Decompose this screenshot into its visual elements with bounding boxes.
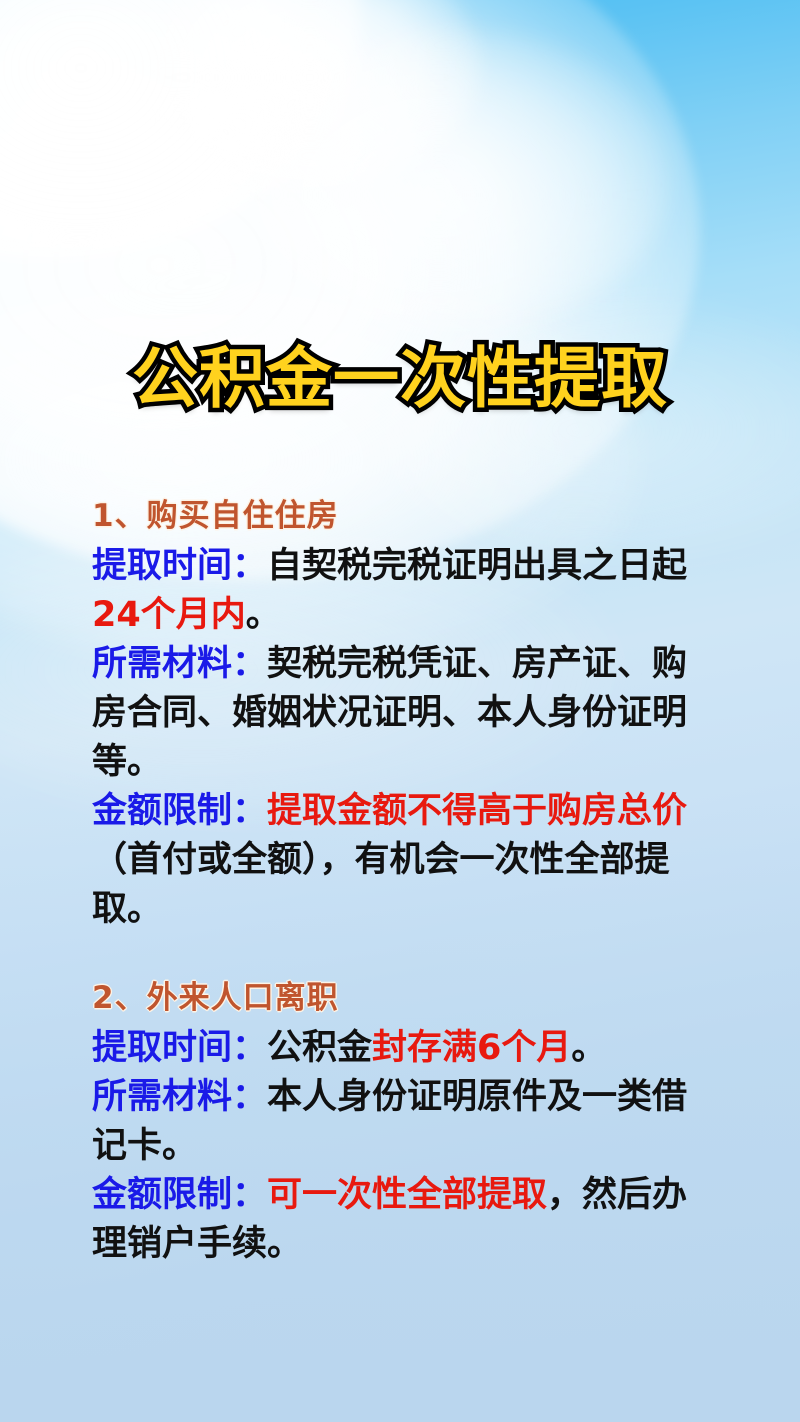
- info-row-label: 所需材料：: [92, 644, 267, 684]
- info-row-text: 公积金: [267, 1028, 372, 1068]
- content-body: 1、购买自住住房提取时间：自契税完税证明出具之日起24个月内。所需材料：契税完税…: [92, 492, 712, 1269]
- info-row-highlight: 封存满6个月: [372, 1028, 571, 1068]
- info-row-text: 。: [571, 1028, 606, 1068]
- section-heading: 2、外来人口离职: [92, 974, 712, 1022]
- section: 1、购买自住住房提取时间：自契税完税证明出具之日起24个月内。所需材料：契税完税…: [92, 492, 712, 934]
- cloud-puff-top: [140, 0, 480, 190]
- info-row: 金额限制：提取金额不得高于购房总价（首付或全额），有机会一次性全部提取。: [92, 787, 712, 934]
- poster-canvas: 公积金一次性提取 1、购买自住住房提取时间：自契税完税证明出具之日起24个月内。…: [0, 0, 800, 1422]
- info-row-label: 金额限制：: [92, 1175, 267, 1215]
- info-row-label: 提取时间：: [92, 546, 267, 586]
- section-heading: 1、购买自住住房: [92, 492, 712, 540]
- info-row: 金额限制：可一次性全部提取，然后办理销户手续。: [92, 1171, 712, 1269]
- info-row: 所需材料：契税完税凭证、房产证、购房合同、婚姻状况证明、本人身份证明等。: [92, 640, 712, 787]
- info-row-text: 自契税完税证明出具之日起: [267, 546, 687, 586]
- info-row: 提取时间：公积金封存满6个月。: [92, 1024, 712, 1073]
- info-row-highlight: 可一次性全部提取: [267, 1175, 547, 1215]
- info-row-label: 提取时间：: [92, 1028, 267, 1068]
- info-row-label: 所需材料：: [92, 1077, 267, 1117]
- cloud-puff-right: [250, 30, 670, 330]
- cloud-upper-left: [0, 0, 360, 260]
- info-row-text: 。: [246, 595, 281, 635]
- info-row-label: 金额限制：: [92, 791, 267, 831]
- section: 2、外来人口离职提取时间：公积金封存满6个月。所需材料：本人身份证明原件及一类借…: [92, 974, 712, 1269]
- info-row: 提取时间：自契税完税证明出具之日起24个月内。: [92, 542, 712, 640]
- info-row-highlight: 24个月内: [92, 595, 246, 635]
- info-row-highlight: 提取金额不得高于购房总价: [267, 791, 687, 831]
- info-row: 所需材料：本人身份证明原件及一类借记卡。: [92, 1073, 712, 1171]
- info-row-text: （首付或全额），有机会一次性全部提取。: [92, 840, 670, 929]
- page-title: 公积金一次性提取: [132, 344, 668, 414]
- title-area: 公积金一次性提取: [0, 300, 800, 458]
